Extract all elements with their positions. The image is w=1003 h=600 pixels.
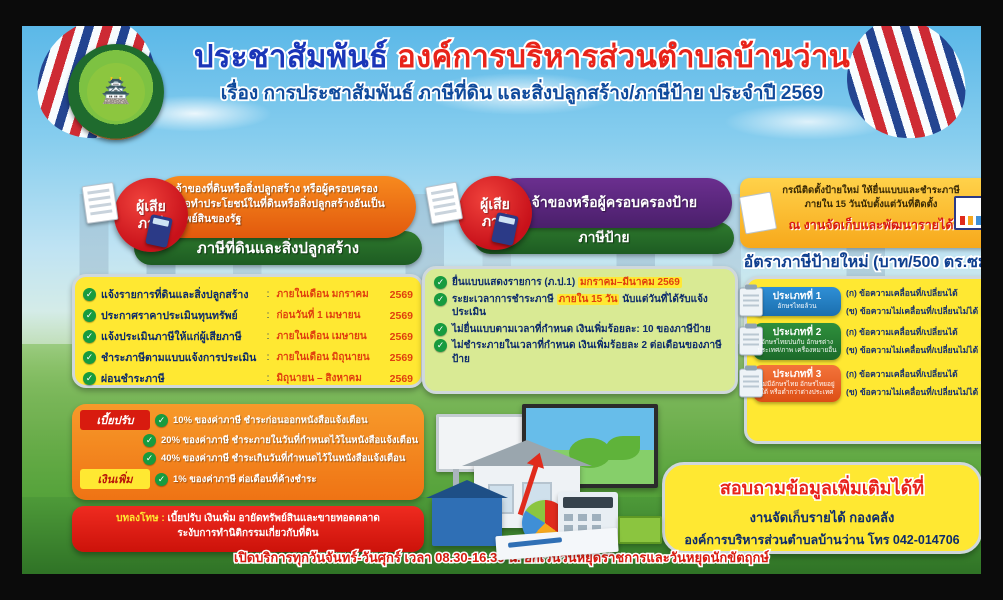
rule-pre: ยื่นแบบแสดงรายการ (ภ.ป.1) bbox=[452, 277, 578, 288]
rule-row: ✓ ไม่ยื่นแบบตามเวลาที่กำหนด เงินเพิ่มร้อ… bbox=[434, 323, 726, 337]
header-title-block: ประชาสัมพันธ์ องค์การบริหารส่วนตำบลบ้านว… bbox=[172, 40, 872, 108]
schedule-row: ✓ แจ้งรายการที่ดินและสิ่งปลูกสร้าง : ภาย… bbox=[83, 284, 413, 305]
penalty-row: ✓ 40% ของค่าภาษี ชำระเกินวันที่กำหนดไว้ใ… bbox=[80, 451, 416, 466]
rule-text: ไม่ยื่นแบบตามเวลาที่กำหนด เงินเพิ่มร้อยล… bbox=[452, 323, 711, 337]
schedule-separator: : bbox=[267, 310, 270, 321]
taxpayer-badge-land-line1: ผู้เสีย bbox=[136, 198, 166, 216]
penalty-card: เบี้ยปรับ ✓ 10% ของค่าภาษี ชำระก่อนออกหน… bbox=[72, 404, 424, 500]
central-illustration bbox=[430, 400, 670, 560]
rate-line: (ก) ข้อความเคลื่อนที่/เปลี่ยนได้ 52 bbox=[846, 367, 981, 382]
contact-card: สอบถามข้อมูลเพิ่มเติมได้ที่ งานจัดเก็บรา… bbox=[662, 462, 981, 554]
rate-table-row: ประเภทที่ 3 ไม่มีอักษรไทย อักษรไทยอยู่ใต… bbox=[753, 365, 981, 402]
rule-highlight: มกราคม–มีนาคม 2569 bbox=[578, 277, 682, 288]
rate-type-name: ประเภทที่ 3 bbox=[756, 369, 838, 381]
document-icon-sign bbox=[425, 182, 463, 225]
check-icon: ✓ bbox=[143, 452, 156, 465]
punishment-tag: บทลงโทษ : bbox=[116, 513, 167, 524]
blue-house-icon bbox=[432, 496, 502, 546]
organization-logo: 🏯 bbox=[68, 44, 164, 140]
notice-line-2: ภายใน 15 วันนับตั้งแต่วันที่ติดตั้ง bbox=[748, 198, 981, 212]
schedule-separator: : bbox=[267, 331, 270, 342]
rate-type-name: ประเภทที่ 1 bbox=[756, 291, 838, 303]
rate-line: (ข) ข้อความไม่เคลื่อนที่/เปลี่ยนไม่ได้ 5 bbox=[846, 303, 981, 318]
punishment-line-1: บทลงโทษ : เบี้ยปรับ เงินเพิ่ม อายัดทรัพย… bbox=[80, 511, 416, 526]
check-icon: ✓ bbox=[155, 414, 168, 427]
check-icon: ✓ bbox=[434, 293, 447, 306]
land-payer-line-3: ทรัพย์สินของรัฐ bbox=[172, 212, 404, 227]
check-icon: ✓ bbox=[434, 323, 447, 336]
rate-table-title: อัตราภาษีป้ายใหม่ (บาท/500 ตร.ซม.) bbox=[738, 250, 981, 275]
rate-table-row: ประเภทที่ 1 อักษรไทยล้วน (ก) ข้อความเคลื… bbox=[753, 285, 981, 318]
schedule-row: ✓ แจ้งประเมินภาษีให้แก่ผู้เสียภาษี : ภาย… bbox=[83, 326, 413, 347]
penalty-row: เบี้ยปรับ ✓ 10% ของค่าภาษี ชำระก่อนออกหน… bbox=[80, 410, 416, 430]
land-payer-line-2: หรือทำประโยชน์ในที่ดินหรือสิ่งปลูกสร้างอ… bbox=[172, 197, 404, 212]
punishment-card: บทลงโทษ : เบี้ยปรับ เงินเพิ่ม อายัดทรัพย… bbox=[72, 506, 424, 552]
schedule-label: ชำระภาษีตามแบบแจ้งการประเมิน bbox=[101, 349, 260, 366]
land-taxpayer-description: เจ้าของที่ดินหรือสิ่งปลูกสร้าง หรือผู้คร… bbox=[150, 176, 416, 238]
schedule-label: ผ่อนชำระภาษี bbox=[101, 370, 260, 387]
schedule-year: 2569 bbox=[390, 289, 413, 301]
penalty-row: เงินเพิ่ม ✓ 1% ของค่าภาษี ต่อเดือนที่ค้า… bbox=[80, 469, 416, 489]
fine-item: 40% ของค่าภาษี ชำระเกินวันที่กำหนดไว้ในห… bbox=[161, 451, 405, 466]
penalty-row: ✓ 20% ของค่าภาษี ชำระภายในวันที่กำหนดไว้… bbox=[80, 433, 416, 448]
schedule-year: 2569 bbox=[390, 331, 413, 343]
rule-text: ไม่ชำระภายในเวลาที่กำหนด เงินเพิ่มร้อยละ… bbox=[452, 339, 726, 366]
schedule-year: 2569 bbox=[390, 373, 413, 385]
check-icon: ✓ bbox=[143, 434, 156, 447]
land-tax-title: ภาษีที่ดินและสิ่งปลูกสร้าง bbox=[197, 236, 359, 260]
check-icon: ✓ bbox=[83, 330, 96, 343]
check-icon: ✓ bbox=[83, 351, 96, 364]
schedule-row: ✓ ประกาศราคาประเมินทุนทรัพย์ : ก่อนวันที… bbox=[83, 305, 413, 326]
contact-office: งานจัดเก็บรายได้ กองคลัง bbox=[675, 507, 969, 528]
rule-text: ระยะเวลาการชำระภาษี ภายใน 15 วัน นับแต่ว… bbox=[452, 293, 726, 320]
page-title: ประชาสัมพันธ์ องค์การบริหารส่วนตำบลบ้านว… bbox=[172, 40, 872, 74]
surcharge-item: 1% ของค่าภาษี ต่อเดือนที่ค้างชำระ bbox=[173, 472, 316, 487]
rate-line: (ก) ข้อความเคลื่อนที่/เปลี่ยนได้ 52 bbox=[846, 325, 981, 340]
rate-line-text: (ก) ข้อความเคลื่อนที่/เปลี่ยนได้ bbox=[846, 286, 978, 300]
document-icon-land bbox=[82, 182, 119, 224]
schedule-year: 2569 bbox=[390, 310, 413, 322]
sign-rate-table: ประเภทที่ 1 อักษรไทยล้วน (ก) ข้อความเคลื… bbox=[744, 276, 981, 444]
rule-row: ✓ ระยะเวลาการชำระภาษี ภายใน 15 วัน นับแต… bbox=[434, 293, 726, 320]
check-icon: ✓ bbox=[434, 276, 447, 289]
rate-type-sub: อักษรไทยล้วน bbox=[756, 303, 838, 311]
rate-line-text: (ข) ข้อความไม่เคลื่อนที่/เปลี่ยนไม่ได้ bbox=[846, 304, 978, 318]
fine-tag: เบี้ยปรับ bbox=[80, 410, 150, 430]
schedule-row: ✓ ผ่อนชำระภาษี : มิถุนายน – สิงหาคม 2569 bbox=[83, 368, 413, 389]
rate-line-group: (ก) ข้อความเคลื่อนที่/เปลี่ยนได้ 52 (ข) … bbox=[846, 367, 981, 400]
surcharge-tag: เงินเพิ่ม bbox=[80, 469, 150, 489]
rate-type-sub: ไม่มีอักษรไทย อักษรไทยอยู่ใต้ หรือต่ำกว่… bbox=[756, 381, 838, 398]
notice-line-1: กรณีติดตั้งป้ายใหม่ ให้ยื่นแบบและชำระภาษ… bbox=[748, 184, 981, 198]
check-icon: ✓ bbox=[83, 372, 96, 385]
schedule-label: ประกาศราคาประเมินทุนทรัพย์ bbox=[101, 307, 260, 324]
poster-header: 🏯 ประชาสัมพันธ์ องค์การบริหารส่วนตำบลบ้า… bbox=[22, 26, 981, 134]
notice-office-highlight: ณ งานจัดเก็บและพัฒนารายได้ bbox=[748, 215, 981, 235]
rate-line: (ก) ข้อความเคลื่อนที่/เปลี่ยนได้ 10 bbox=[846, 285, 981, 300]
fine-item: 20% ของค่าภาษี ชำระภายในวันที่กำหนดไว้ใน… bbox=[161, 433, 418, 448]
rate-line: (ข) ข้อความไม่เคลื่อนที่/เปลี่ยนไม่ได้ 2… bbox=[846, 343, 981, 358]
schedule-label: แจ้งประเมินภาษีให้แก่ผู้เสียภาษี bbox=[101, 328, 260, 345]
title-announcement: ประชาสัมพันธ์ bbox=[194, 39, 388, 74]
rate-line-text: (ข) ข้อความไม่เคลื่อนที่/เปลี่ยนไม่ได้ bbox=[846, 385, 978, 399]
sign-tax-rules-card: ✓ ยื่นแบบแสดงรายการ (ภ.ป.1) มกราคม–มีนาค… bbox=[422, 266, 738, 394]
rate-line-text: (ข) ข้อความไม่เคลื่อนที่/เปลี่ยนไม่ได้ bbox=[846, 343, 978, 357]
logo-inner-disc: 🏯 bbox=[87, 63, 145, 121]
schedule-separator: : bbox=[267, 373, 270, 384]
title-organization: องค์การบริหารส่วนตำบลบ้านว่าน bbox=[397, 39, 850, 74]
rule-row: ✓ ไม่ชำระภายในเวลาที่กำหนด เงินเพิ่มร้อย… bbox=[434, 339, 726, 366]
rate-type-chip-2: ประเภทที่ 2 อักษรไทยปนกับ อักษรต่างประเท… bbox=[753, 323, 841, 360]
schedule-separator: : bbox=[267, 289, 270, 300]
poster-frame: 🏯 ประชาสัมพันธ์ องค์การบริหารส่วนตำบลบ้า… bbox=[22, 26, 981, 574]
rate-type-sub: อักษรไทยปนกับ อักษรต่างประเทศ/ภาพ เครื่อ… bbox=[756, 339, 838, 356]
rule-row: ✓ ยื่นแบบแสดงรายการ (ภ.ป.1) มกราคม–มีนาค… bbox=[434, 276, 726, 290]
punishment-text-1: เบี้ยปรับ เงินเพิ่ม อายัดทรัพย์สินและขาย… bbox=[168, 513, 380, 524]
schedule-separator: : bbox=[267, 352, 270, 363]
taxpayer-badge-sign-line1: ผู้เสีย bbox=[480, 196, 510, 214]
rate-line-group: (ก) ข้อความเคลื่อนที่/เปลี่ยนได้ 10 (ข) … bbox=[846, 285, 981, 318]
schedule-value: ก่อนวันที่ 1 เมษายน bbox=[276, 308, 384, 323]
fine-item: 10% ของค่าภาษี ชำระก่อนออกหนังสือแจ้งเตื… bbox=[173, 413, 368, 428]
punishment-line-2: ระงับการทำนิติกรรมเกี่ยวกับที่ดิน bbox=[80, 526, 416, 541]
rule-pre: ระยะเวลาการชำระภาษี bbox=[452, 294, 557, 305]
sign-taxpayer-label: เจ้าของหรือผู้ครอบครองป้าย bbox=[527, 192, 697, 214]
temple-glyph-icon: 🏯 bbox=[101, 80, 131, 104]
check-icon: ✓ bbox=[434, 339, 447, 352]
rate-line-text: (ก) ข้อความเคลื่อนที่/เปลี่ยนได้ bbox=[846, 325, 978, 339]
new-sign-notice-card: กรณีติดตั้งป้ายใหม่ ให้ยื่นแบบและชำระภาษ… bbox=[740, 178, 981, 248]
bar-chart-monitor-icon bbox=[954, 196, 981, 230]
contact-heading: สอบถามข้อมูลเพิ่มเติมได้ที่ bbox=[675, 473, 969, 502]
banknote-icon bbox=[618, 516, 662, 544]
schedule-value: ภายในเดือน มิถุนายน bbox=[276, 350, 384, 365]
page-subtitle: เรื่อง การประชาสัมพันธ์ ภาษีที่ดิน และสิ… bbox=[172, 78, 872, 108]
rate-table-row: ประเภทที่ 2 อักษรไทยปนกับ อักษรต่างประเท… bbox=[753, 323, 981, 360]
schedule-value: ภายในเดือน เมษายน bbox=[276, 329, 384, 344]
schedule-row: ✓ ชำระภาษีตามแบบแจ้งการประเมิน : ภายในเด… bbox=[83, 347, 413, 368]
land-payer-line-1: เจ้าของที่ดินหรือสิ่งปลูกสร้าง หรือผู้คร… bbox=[172, 182, 404, 197]
rule-text: ยื่นแบบแสดงรายการ (ภ.ป.1) มกราคม–มีนาคม … bbox=[452, 276, 682, 290]
rate-line: (ข) ข้อความไม่เคลื่อนที่/เปลี่ยนไม่ได้ 5… bbox=[846, 385, 981, 400]
rate-type-name: ประเภทที่ 2 bbox=[756, 327, 838, 339]
land-tax-schedule-card: ✓ แจ้งรายการที่ดินและสิ่งปลูกสร้าง : ภาย… bbox=[72, 274, 424, 388]
sign-tax-title: ภาษีป้าย bbox=[578, 227, 629, 249]
rate-line-group: (ก) ข้อความเคลื่อนที่/เปลี่ยนได้ 52 (ข) … bbox=[846, 325, 981, 358]
schedule-value: มิถุนายน – สิงหาคม bbox=[276, 371, 384, 386]
rate-type-chip-3: ประเภทที่ 3 ไม่มีอักษรไทย อักษรไทยอยู่ใต… bbox=[753, 365, 841, 402]
poster-root: 🏯 ประชาสัมพันธ์ องค์การบริหารส่วนตำบลบ้า… bbox=[0, 0, 1003, 600]
paper-stack-icon bbox=[739, 192, 777, 235]
leaf-decoration-icon bbox=[606, 436, 640, 460]
schedule-year: 2569 bbox=[390, 352, 413, 364]
schedule-label: แจ้งรายการที่ดินและสิ่งปลูกสร้าง bbox=[101, 286, 260, 303]
check-icon: ✓ bbox=[155, 473, 168, 486]
check-icon: ✓ bbox=[83, 288, 96, 301]
schedule-value: ภายในเดือน มกราคม bbox=[276, 287, 384, 302]
rule-highlight: ภายใน 15 วัน bbox=[557, 294, 620, 305]
rate-type-chip-1: ประเภทที่ 1 อักษรไทยล้วน bbox=[753, 287, 841, 315]
check-icon: ✓ bbox=[83, 309, 96, 322]
rate-line-text: (ก) ข้อความเคลื่อนที่/เปลี่ยนได้ bbox=[846, 367, 978, 381]
